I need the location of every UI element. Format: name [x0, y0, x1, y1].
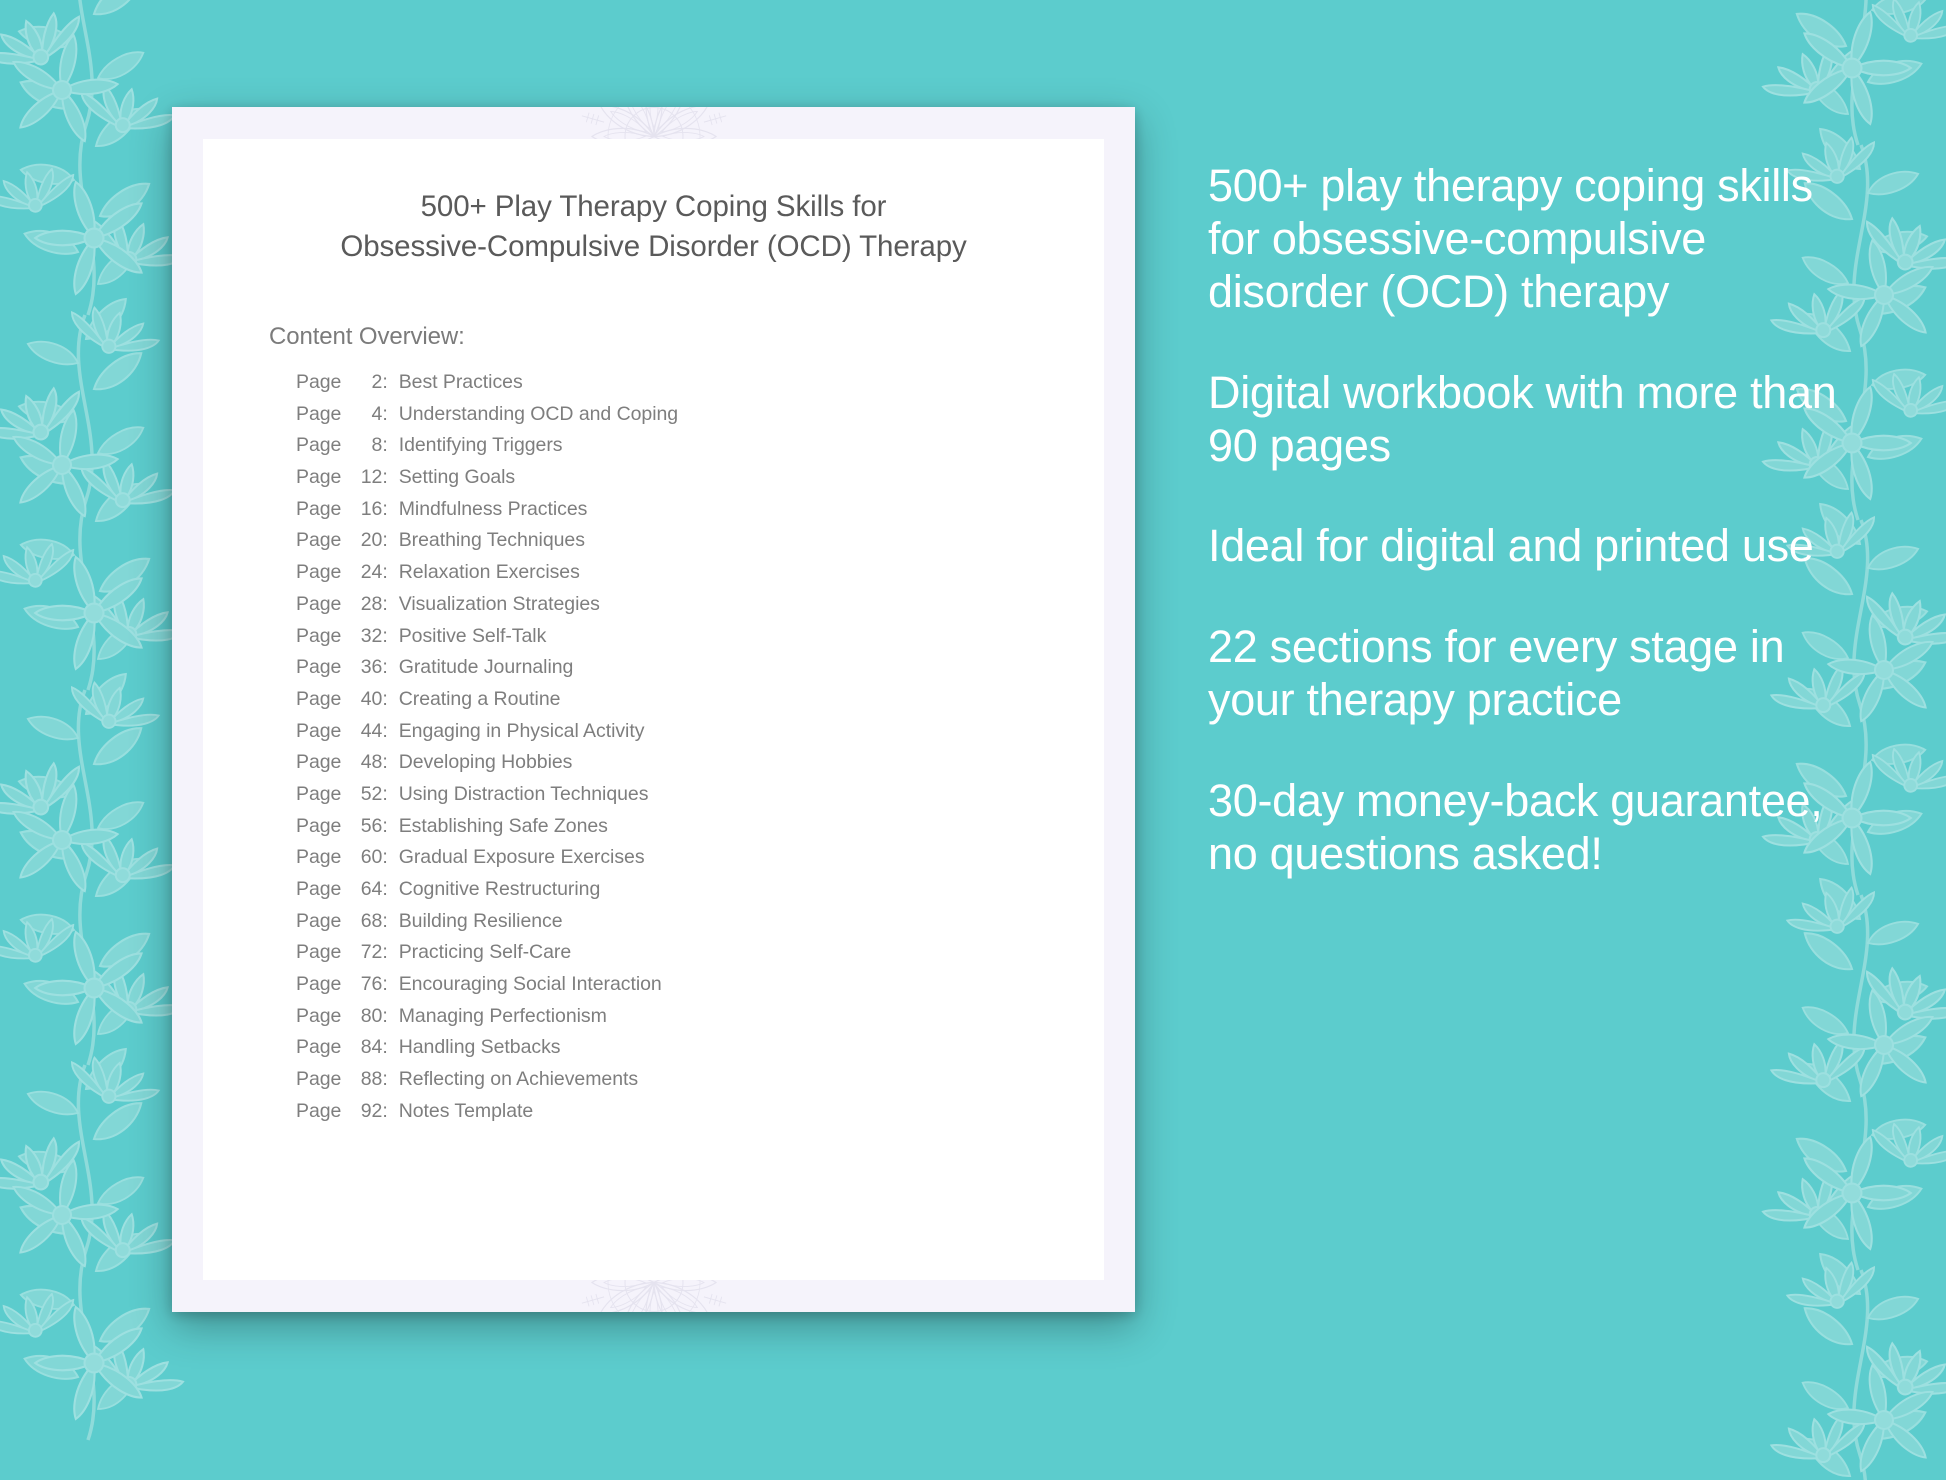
toc-page-word: Page [296, 468, 341, 488]
toc-entry-title: Encouraging Social Interaction [399, 975, 662, 995]
toc-page-word: Page [296, 1038, 341, 1058]
toc-entry-title: Relaxation Exercises [399, 563, 580, 583]
toc-entry: Page80:Managing Perfectionism [296, 1007, 1052, 1039]
marketing-block: 22 sections for every stage in your ther… [1208, 621, 1848, 727]
toc-page-word: Page [296, 880, 341, 900]
toc-page-number: 28 [346, 595, 382, 615]
toc-entry: Page76:Encouraging Social Interaction [296, 975, 1052, 1007]
toc-page-number: 92 [346, 1102, 382, 1122]
toc-entry: Page60:Gradual Exposure Exercises [296, 848, 1052, 880]
toc-page-word: Page [296, 500, 341, 520]
toc-page-number: 44 [346, 722, 382, 742]
toc-entry-title: Visualization Strategies [399, 595, 600, 615]
toc-colon: : [382, 658, 387, 678]
toc-entry-title: Establishing Safe Zones [399, 817, 608, 837]
toc-page-word: Page [296, 912, 341, 932]
toc-page-word: Page [296, 595, 341, 615]
toc-entry: Page12:Setting Goals [296, 468, 1052, 500]
toc-page-number: 72 [346, 943, 382, 963]
marketing-block: Ideal for digital and printed use [1208, 520, 1848, 573]
toc-colon: : [382, 785, 387, 805]
toc-page-number: 40 [346, 690, 382, 710]
toc-colon: : [382, 690, 387, 710]
toc-page-word: Page [296, 943, 341, 963]
toc-entry-title: Setting Goals [399, 468, 515, 488]
toc-colon: : [382, 373, 387, 393]
table-of-contents: Page2:Best PracticesPage4:Understanding … [255, 373, 1052, 1134]
toc-page-number: 4 [346, 405, 382, 425]
toc-page-word: Page [296, 1102, 341, 1122]
toc-colon: : [382, 1070, 387, 1090]
toc-entry: Page2:Best Practices [296, 373, 1052, 405]
toc-page-word: Page [296, 436, 341, 456]
toc-page-word: Page [296, 627, 341, 647]
toc-page-word: Page [296, 690, 341, 710]
toc-colon: : [382, 1102, 387, 1122]
toc-entry: Page16:Mindfulness Practices [296, 500, 1052, 532]
toc-page-number: 76 [346, 975, 382, 995]
toc-colon: : [382, 1007, 387, 1027]
toc-page-word: Page [296, 405, 341, 425]
toc-colon: : [382, 753, 387, 773]
toc-entry: Page72:Practicing Self-Care [296, 943, 1052, 975]
toc-colon: : [382, 405, 387, 425]
toc-page-number: 12 [346, 468, 382, 488]
toc-colon: : [382, 880, 387, 900]
toc-entry-title: Understanding OCD and Coping [399, 405, 678, 425]
page-title: 500+ Play Therapy Coping Skills for Obse… [255, 187, 1052, 266]
toc-entry-title: Handling Setbacks [399, 1038, 561, 1058]
toc-entry-title: Mindfulness Practices [399, 500, 588, 520]
toc-entry: Page88:Reflecting on Achievements [296, 1070, 1052, 1102]
toc-page-word: Page [296, 722, 341, 742]
marketing-block: Digital workbook with more than 90 pages [1208, 367, 1848, 473]
toc-page-number: 52 [346, 785, 382, 805]
toc-entry: Page44:Engaging in Physical Activity [296, 722, 1052, 754]
toc-page-word: Page [296, 975, 341, 995]
toc-colon: : [382, 595, 387, 615]
toc-entry: Page36:Gratitude Journaling [296, 658, 1052, 690]
page-title-line-2: Obsessive-Compulsive Disorder (OCD) Ther… [255, 227, 1052, 267]
toc-entry-title: Managing Perfectionism [399, 1007, 607, 1027]
toc-entry-title: Building Resilience [399, 912, 563, 932]
toc-page-word: Page [296, 531, 341, 551]
toc-page-word: Page [296, 753, 341, 773]
toc-page-number: 8 [346, 436, 382, 456]
toc-colon: : [382, 848, 387, 868]
toc-colon: : [382, 722, 387, 742]
toc-page-number: 2 [346, 373, 382, 393]
toc-colon: : [382, 1038, 387, 1058]
toc-page-number: 16 [346, 500, 382, 520]
toc-entry-title: Using Distraction Techniques [399, 785, 649, 805]
toc-entry-title: Identifying Triggers [399, 436, 563, 456]
toc-colon: : [382, 563, 387, 583]
toc-entry-title: Best Practices [399, 373, 523, 393]
toc-colon: : [382, 436, 387, 456]
toc-page-number: 60 [346, 848, 382, 868]
marketing-block: 30-day money-back guarantee, no question… [1208, 775, 1848, 881]
toc-page-word: Page [296, 1007, 341, 1027]
toc-page-word: Page [296, 848, 341, 868]
toc-entry: Page40:Creating a Routine [296, 690, 1052, 722]
workbook-page: 500+ Play Therapy Coping Skills for Obse… [203, 139, 1104, 1280]
toc-colon: : [382, 531, 387, 551]
toc-page-word: Page [296, 563, 341, 583]
toc-entry: Page28:Visualization Strategies [296, 595, 1052, 627]
toc-page-number: 80 [346, 1007, 382, 1027]
toc-entry: Page48:Developing Hobbies [296, 753, 1052, 785]
toc-entry: Page24:Relaxation Exercises [296, 563, 1052, 595]
toc-page-word: Page [296, 658, 341, 678]
toc-entry-title: Creating a Routine [399, 690, 561, 710]
toc-page-number: 84 [346, 1038, 382, 1058]
toc-entry-title: Notes Template [399, 1102, 533, 1122]
toc-page-word: Page [296, 785, 341, 805]
toc-entry-title: Developing Hobbies [399, 753, 573, 773]
toc-entry: Page92:Notes Template [296, 1102, 1052, 1134]
toc-entry-title: Reflecting on Achievements [399, 1070, 638, 1090]
toc-page-word: Page [296, 373, 341, 393]
toc-entry: Page52:Using Distraction Techniques [296, 785, 1052, 817]
marketing-copy-column: 500+ play therapy coping skills for obse… [1208, 160, 1848, 881]
toc-entry-title: Engaging in Physical Activity [399, 722, 645, 742]
toc-page-word: Page [296, 1070, 341, 1090]
toc-entry-title: Gratitude Journaling [399, 658, 574, 678]
toc-entry: Page68:Building Resilience [296, 912, 1052, 944]
toc-page-number: 48 [346, 753, 382, 773]
toc-page-number: 32 [346, 627, 382, 647]
page-title-line-1: 500+ Play Therapy Coping Skills for [255, 187, 1052, 227]
toc-page-number: 64 [346, 880, 382, 900]
toc-entry: Page4:Understanding OCD and Coping [296, 405, 1052, 437]
toc-colon: : [382, 975, 387, 995]
toc-entry: Page20:Breathing Techniques [296, 531, 1052, 563]
marketing-block: 500+ play therapy coping skills for obse… [1208, 160, 1848, 319]
toc-entry: Page32:Positive Self-Talk [296, 627, 1052, 659]
toc-colon: : [382, 500, 387, 520]
workbook-preview-card: 500+ Play Therapy Coping Skills for Obse… [172, 107, 1135, 1312]
toc-colon: : [382, 627, 387, 647]
toc-entry-title: Cognitive Restructuring [399, 880, 601, 900]
toc-page-number: 68 [346, 912, 382, 932]
toc-entry-title: Positive Self-Talk [399, 627, 547, 647]
toc-page-number: 56 [346, 817, 382, 837]
toc-entry: Page8:Identifying Triggers [296, 436, 1052, 468]
toc-page-word: Page [296, 817, 341, 837]
toc-entry-title: Practicing Self-Care [399, 943, 571, 963]
toc-entry: Page56:Establishing Safe Zones [296, 817, 1052, 849]
toc-colon: : [382, 468, 387, 488]
toc-entry: Page84:Handling Setbacks [296, 1038, 1052, 1070]
toc-colon: : [382, 912, 387, 932]
toc-entry: Page64:Cognitive Restructuring [296, 880, 1052, 912]
toc-page-number: 20 [346, 531, 382, 551]
toc-colon: : [382, 943, 387, 963]
content-overview-label: Content Overview: [269, 323, 1052, 351]
toc-page-number: 36 [346, 658, 382, 678]
toc-entry-title: Breathing Techniques [399, 531, 585, 551]
toc-page-number: 88 [346, 1070, 382, 1090]
toc-page-number: 24 [346, 563, 382, 583]
toc-colon: : [382, 817, 387, 837]
toc-entry-title: Gradual Exposure Exercises [399, 848, 645, 868]
